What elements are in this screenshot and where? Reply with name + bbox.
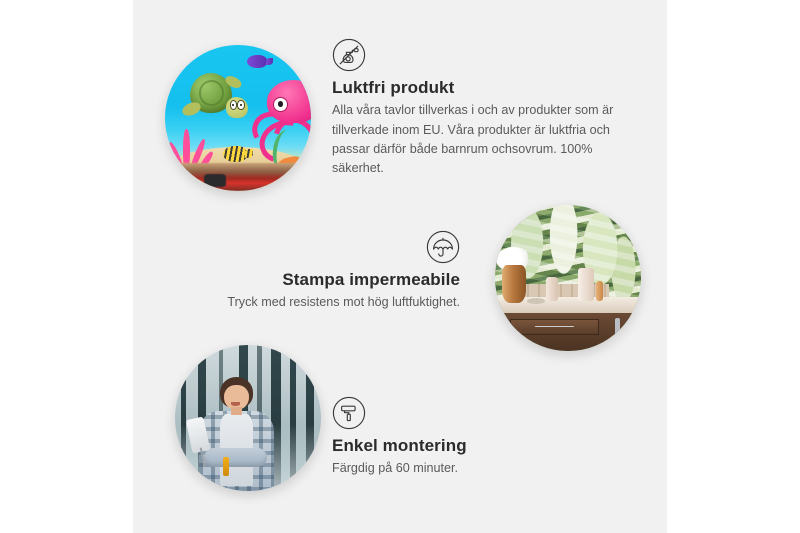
bottle-amber xyxy=(596,281,603,301)
woman-with-paint-roller xyxy=(195,377,277,491)
turtle-illustration xyxy=(181,73,245,127)
woman-forest-wallpaper-photo xyxy=(175,345,321,491)
paint-roller-icon xyxy=(332,396,366,430)
feature-block-easy-install: Enkel montering Färgdig på 60 minuter. xyxy=(332,396,572,479)
gold-vase xyxy=(502,265,525,303)
room-photo-strip xyxy=(177,163,311,191)
no-fragrance-icon xyxy=(332,38,366,72)
wood-vanity-cabinet xyxy=(504,313,641,351)
feature-title: Stampa impermeabile xyxy=(200,270,460,290)
feature-description: Alla våra tavlor tillverkas i och av pro… xyxy=(332,101,622,178)
umbrella-icon xyxy=(426,230,460,264)
feature-title: Enkel montering xyxy=(332,436,572,456)
bathroom-botanical-photo xyxy=(495,205,641,351)
bottle-small xyxy=(546,277,558,302)
purple-fish xyxy=(247,55,267,68)
yellow-fish xyxy=(223,146,246,162)
underwater-cartoon-photo xyxy=(165,45,311,191)
feature-description: Färgdig på 60 minuter. xyxy=(332,459,572,478)
feature-block-waterproof: Stampa impermeabile Tryck med resistens … xyxy=(200,230,460,313)
feature-title: Luktfri produkt xyxy=(332,78,622,98)
feature-block-odourless: Luktfri produkt Alla våra tavlor tillver… xyxy=(332,38,622,178)
bottle-large xyxy=(578,268,594,302)
product-feature-infographic: Luktfri produkt Alla våra tavlor tillver… xyxy=(0,0,800,533)
feature-description: Tryck med resistens mot hög luftfuktighe… xyxy=(200,293,460,312)
